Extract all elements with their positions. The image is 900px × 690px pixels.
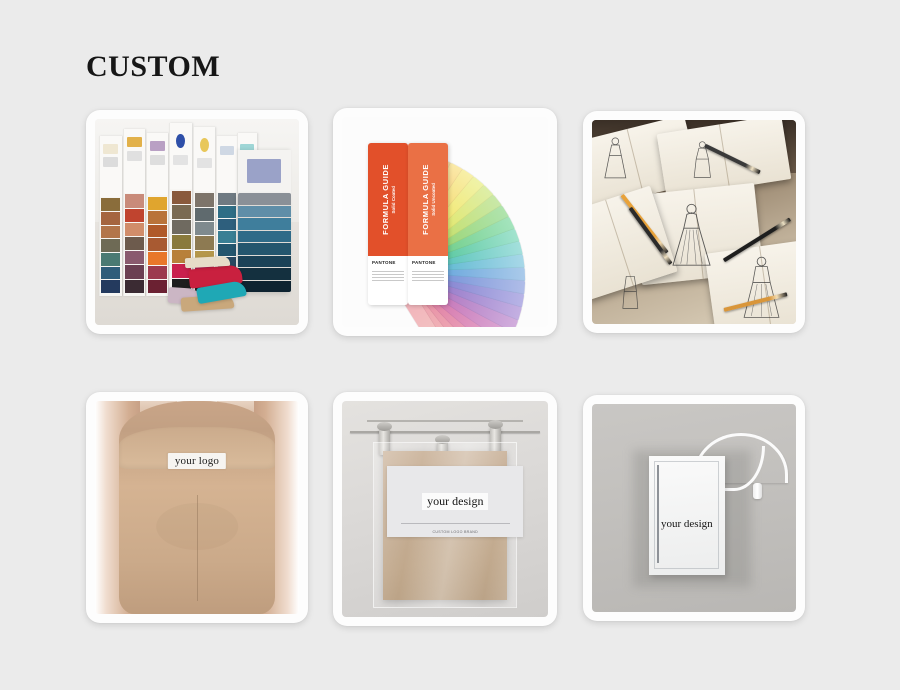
style-customization-image xyxy=(592,120,796,324)
dress-sketch-icon xyxy=(735,255,788,320)
custom-options-row: Fabric Customization xyxy=(0,104,900,392)
custom-options-grid: Fabric Customization xyxy=(0,104,900,680)
fabric-customization-image xyxy=(95,119,299,325)
package-mockup-label: your design xyxy=(422,493,488,510)
page-title: CUSTOM xyxy=(86,52,220,82)
card-package-bags-customization[interactable]: your design CUSTOM LOGO BRAND xyxy=(333,392,557,626)
dress-sketch-icon xyxy=(614,271,647,312)
logo-mockup-label: your logo xyxy=(168,453,226,469)
hangtag-card: your design xyxy=(649,456,724,575)
logo-customization-image: your logo xyxy=(95,401,299,614)
dress-sketch-icon xyxy=(665,202,718,271)
guide-title-text: FORMULA GUIDE xyxy=(381,164,390,235)
hangtags-customization-image: your design xyxy=(592,404,796,612)
color-customization-image: FORMULA GUIDE Solid Coated PANTONE FORMU… xyxy=(342,117,548,327)
pantone-brand-text: PANTONE xyxy=(412,260,436,265)
card-style-customization[interactable] xyxy=(583,111,805,333)
custom-options-row: your logo Logo Customization your design… xyxy=(0,392,900,680)
package-design-label: your design CUSTOM LOGO BRAND xyxy=(387,466,523,537)
pantone-guide-uncoated: FORMULA GUIDE Solid Uncoated PANTONE xyxy=(408,143,448,305)
pantone-guide-coated: FORMULA GUIDE Solid Coated PANTONE xyxy=(368,143,408,305)
dress-sketch-icon xyxy=(598,136,633,181)
pantone-brand-text: PANTONE xyxy=(372,260,396,265)
guide-title-text: FORMULA GUIDE xyxy=(421,164,430,235)
card-hangtags-customization[interactable]: your design xyxy=(583,395,805,621)
hangtag-mockup-label: your design xyxy=(649,518,724,530)
card-color-customization[interactable]: FORMULA GUIDE Solid Coated PANTONE FORMU… xyxy=(333,108,557,336)
card-logo-customization[interactable]: your logo xyxy=(86,392,308,623)
guide-subtitle-text: Solid Coated xyxy=(391,186,396,214)
guide-subtitle-text: Solid Uncoated xyxy=(431,183,436,216)
package-bags-customization-image: your design CUSTOM LOGO BRAND xyxy=(342,401,548,617)
card-fabric-customization[interactable] xyxy=(86,110,308,334)
package-label-subtext: CUSTOM LOGO BRAND xyxy=(387,530,523,534)
